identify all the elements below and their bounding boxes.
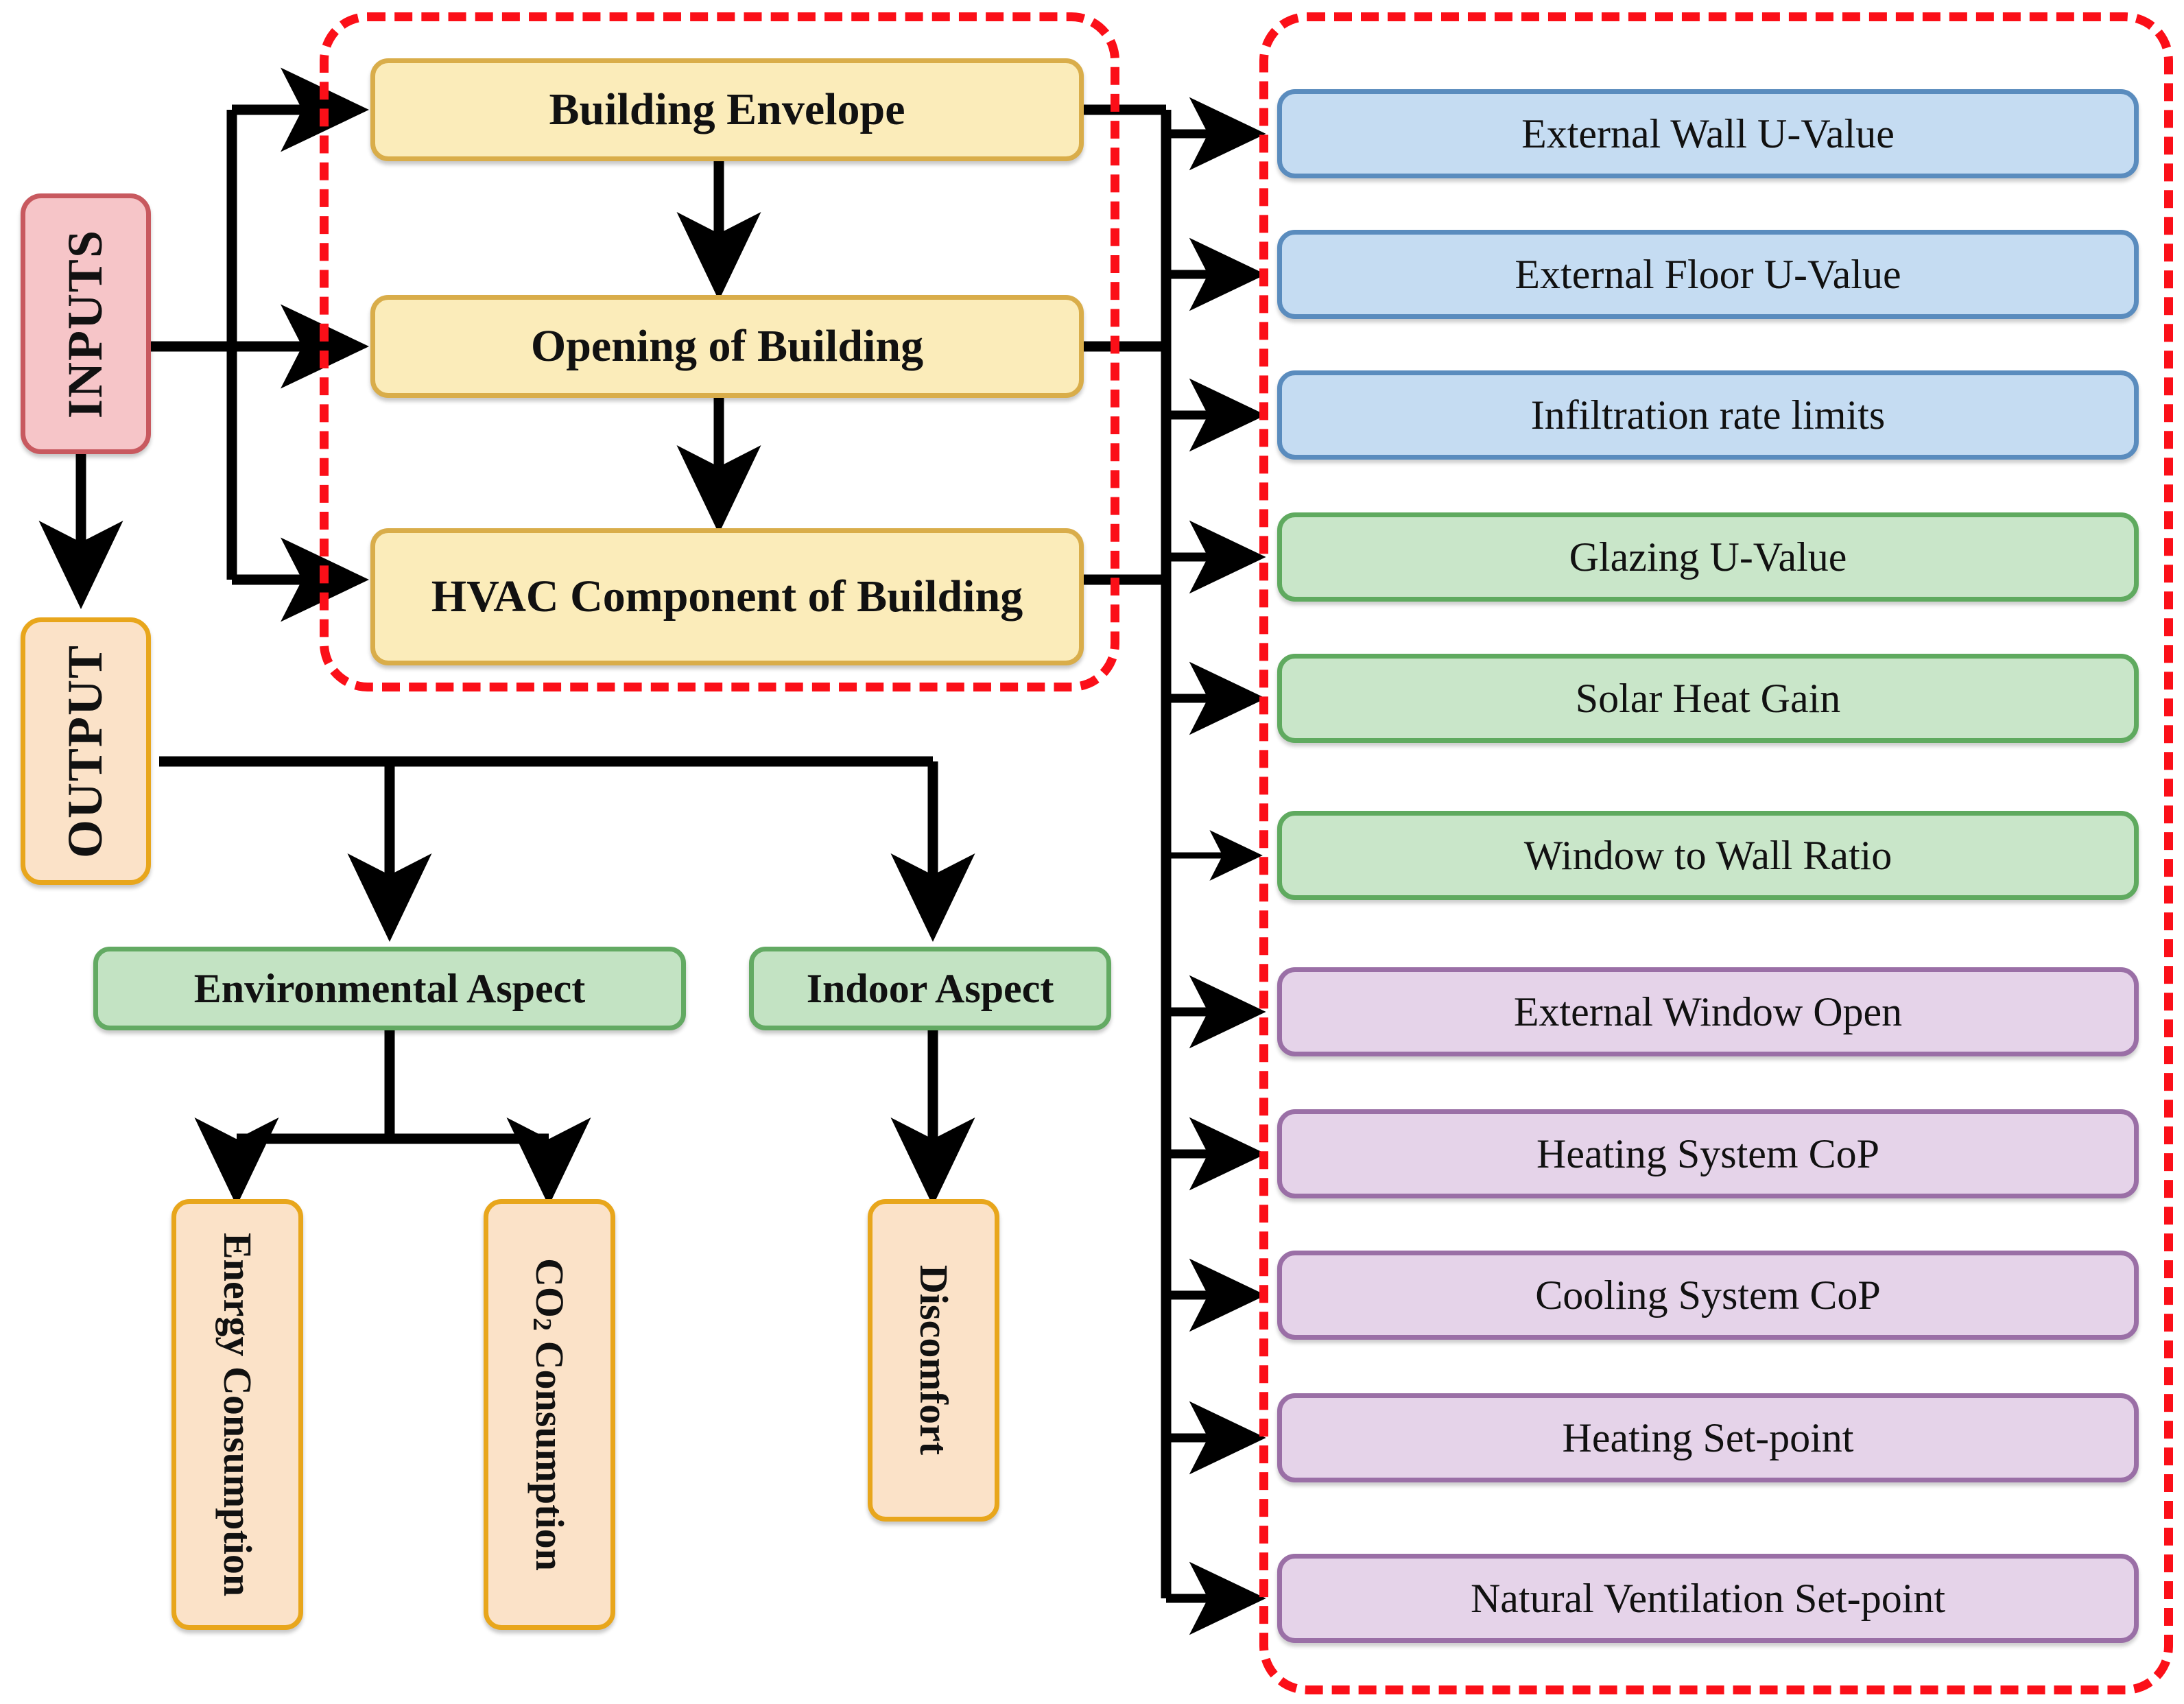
parameter-box-external-window-open[interactable]: External Window Open	[1277, 967, 2139, 1056]
metric-label-co2-consumption: CO2 Consumption	[527, 1258, 571, 1571]
diagram-canvas: INPUTS OUTPUT Building Envelope Opening …	[0, 0, 2184, 1704]
output-label: OUTPUT	[58, 644, 112, 858]
parameter-box-heating-system-cop[interactable]: Heating System CoP	[1277, 1109, 2139, 1198]
inputs-box[interactable]: INPUTS	[21, 193, 151, 454]
metric-label-energy-consumption: Energy Consumption	[215, 1233, 259, 1596]
aspect-label-indoor: Indoor Aspect	[807, 966, 1054, 1011]
parameter-box-heating-set-point[interactable]: Heating Set-point	[1277, 1393, 2139, 1482]
inputs-label: INPUTS	[58, 229, 112, 418]
category-box-opening-of-building[interactable]: Opening of Building	[370, 295, 1084, 398]
co2-rest: Consumption	[527, 1331, 572, 1571]
parameter-label-glazing-u-value: Glazing U-Value	[1569, 534, 1847, 580]
category-label-opening-of-building: Opening of Building	[531, 322, 923, 372]
category-label-building-envelope: Building Envelope	[549, 85, 905, 135]
co2-base: CO	[527, 1258, 572, 1318]
parameter-box-solar-heat-gain[interactable]: Solar Heat Gain	[1277, 654, 2139, 743]
parameter-box-external-floor-u-value[interactable]: External Floor U-Value	[1277, 230, 2139, 319]
metric-box-energy-consumption[interactable]: Energy Consumption	[171, 1199, 303, 1630]
parameter-box-natural-ventilation-set-point[interactable]: Natural Ventilation Set-point	[1277, 1554, 2139, 1643]
parameter-box-infiltration-rate-limits[interactable]: Infiltration rate limits	[1277, 370, 2139, 460]
co2-subscript: 2	[527, 1318, 556, 1331]
aspect-label-environmental: Environmental Aspect	[194, 966, 586, 1011]
parameter-label-infiltration-rate-limits: Infiltration rate limits	[1531, 392, 1886, 438]
metric-label-discomfort: Discomfort	[912, 1265, 955, 1455]
parameter-label-external-wall-u-value: External Wall U-Value	[1521, 111, 1895, 156]
metric-box-discomfort[interactable]: Discomfort	[868, 1199, 999, 1522]
parameter-box-window-to-wall-ratio[interactable]: Window to Wall Ratio	[1277, 811, 2139, 900]
parameter-box-cooling-system-cop[interactable]: Cooling System CoP	[1277, 1251, 2139, 1340]
parameter-label-external-floor-u-value: External Floor U-Value	[1515, 252, 1901, 297]
category-label-hvac-component: HVAC Component of Building	[431, 572, 1023, 622]
parameter-label-solar-heat-gain: Solar Heat Gain	[1576, 676, 1841, 721]
parameter-label-heating-set-point: Heating Set-point	[1563, 1415, 1854, 1460]
parameter-label-cooling-system-cop: Cooling System CoP	[1535, 1273, 1880, 1318]
parameter-label-window-to-wall-ratio: Window to Wall Ratio	[1524, 833, 1892, 878]
parameter-box-external-wall-u-value[interactable]: External Wall U-Value	[1277, 89, 2139, 178]
parameter-box-glazing-u-value[interactable]: Glazing U-Value	[1277, 512, 2139, 602]
aspect-box-indoor[interactable]: Indoor Aspect	[749, 947, 1111, 1030]
metric-box-co2-consumption[interactable]: CO2 Consumption	[484, 1199, 615, 1630]
parameter-label-external-window-open: External Window Open	[1514, 989, 1902, 1034]
category-box-building-envelope[interactable]: Building Envelope	[370, 58, 1084, 161]
output-box[interactable]: OUTPUT	[21, 617, 151, 885]
aspect-box-environmental[interactable]: Environmental Aspect	[93, 947, 686, 1030]
category-box-hvac-component[interactable]: HVAC Component of Building	[370, 528, 1084, 665]
parameter-label-natural-ventilation-set-point: Natural Ventilation Set-point	[1471, 1576, 1945, 1621]
parameter-label-heating-system-cop: Heating System CoP	[1536, 1131, 1879, 1176]
